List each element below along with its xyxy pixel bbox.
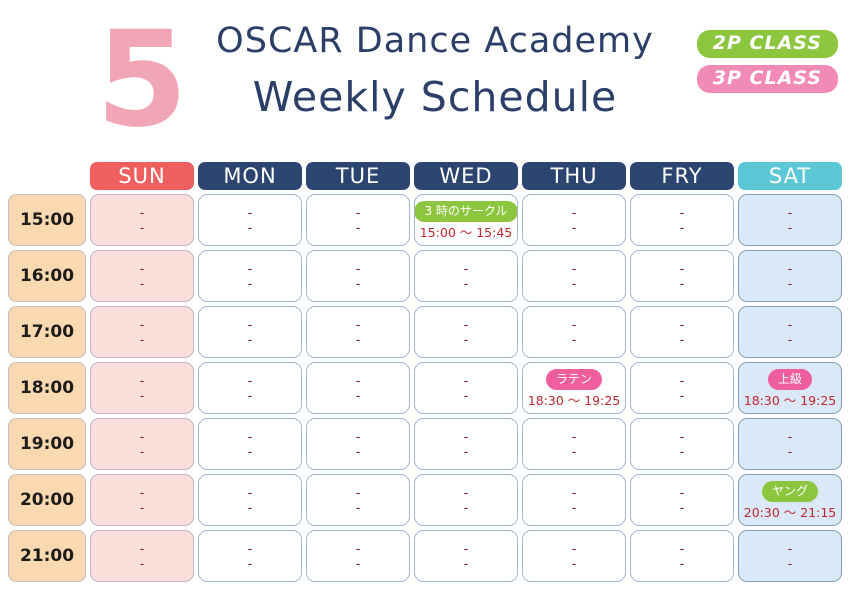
empty-marker: -	[248, 221, 252, 234]
empty-marker: -	[788, 557, 792, 570]
empty-marker: -	[356, 333, 360, 346]
empty-marker: -	[680, 374, 684, 387]
empty-marker: -	[356, 277, 360, 290]
time-label: 16:00	[8, 250, 86, 302]
empty-marker: -	[248, 542, 252, 555]
schedule-cell-empty[interactable]: --	[90, 250, 194, 302]
empty-marker: -	[248, 486, 252, 499]
empty-marker: -	[464, 486, 468, 499]
event-title: ヤング	[762, 481, 818, 502]
empty-marker: -	[572, 445, 576, 458]
schedule-cell-empty[interactable]: --	[198, 362, 302, 414]
schedule-cell-empty[interactable]: --	[630, 306, 734, 358]
empty-marker: -	[680, 557, 684, 570]
empty-marker: -	[680, 318, 684, 331]
empty-marker: -	[356, 501, 360, 514]
empty-marker: -	[464, 333, 468, 346]
schedule-cell-empty[interactable]: --	[522, 306, 626, 358]
empty-marker: -	[572, 486, 576, 499]
empty-marker: -	[248, 206, 252, 219]
schedule-cell-empty[interactable]: --	[630, 362, 734, 414]
empty-marker: -	[464, 374, 468, 387]
empty-marker: -	[572, 221, 576, 234]
day-header-thu[interactable]: THU	[522, 162, 626, 190]
empty-marker: -	[680, 221, 684, 234]
title-block: OSCAR Dance Academy Weekly Schedule	[200, 20, 670, 125]
time-column-header	[8, 162, 86, 190]
schedule-cell-empty[interactable]: --	[414, 362, 518, 414]
schedule-row: 16:00--------------	[8, 250, 852, 302]
empty-marker: -	[788, 262, 792, 275]
empty-marker: -	[356, 374, 360, 387]
empty-marker: -	[140, 445, 144, 458]
schedule-cell-empty[interactable]: --	[738, 530, 842, 582]
schedule-event[interactable]: 上級18:30 〜 19:25	[738, 362, 842, 414]
schedule-cell-empty[interactable]: --	[414, 530, 518, 582]
page-title: OSCAR Dance Academy	[200, 20, 670, 64]
empty-marker: -	[788, 542, 792, 555]
schedule-row: 20:00------------ヤング20:30 〜 21:15	[8, 474, 852, 526]
empty-marker: -	[140, 557, 144, 570]
class-badge-list: 2P CLASS3P CLASS	[697, 30, 838, 93]
event-title: ラテン	[546, 369, 602, 390]
empty-marker: -	[140, 542, 144, 555]
schedule-cell-empty[interactable]: --	[198, 306, 302, 358]
empty-marker: -	[572, 333, 576, 346]
empty-marker: -	[788, 206, 792, 219]
empty-marker: -	[572, 542, 576, 555]
empty-marker: -	[788, 318, 792, 331]
empty-marker: -	[356, 430, 360, 443]
empty-marker: -	[248, 262, 252, 275]
empty-marker: -	[788, 277, 792, 290]
day-header-wed[interactable]: WED	[414, 162, 518, 190]
empty-marker: -	[356, 206, 360, 219]
empty-marker: -	[464, 542, 468, 555]
schedule-cell-empty[interactable]: --	[306, 306, 410, 358]
event-time: 18:30 〜 19:25	[528, 395, 621, 408]
time-label: 17:00	[8, 306, 86, 358]
schedule-cell-empty[interactable]: --	[90, 474, 194, 526]
empty-marker: -	[572, 557, 576, 570]
empty-marker: -	[680, 206, 684, 219]
empty-marker: -	[680, 389, 684, 402]
day-header-row: SUNMONTUEWEDTHUFRYSAT	[8, 162, 852, 190]
schedule-cell-empty[interactable]: --	[738, 306, 842, 358]
empty-marker: -	[464, 262, 468, 275]
schedule-cell-empty[interactable]: --	[630, 194, 734, 246]
schedule-cell-empty[interactable]: --	[306, 194, 410, 246]
time-label: 18:00	[8, 362, 86, 414]
event-time: 15:00 〜 15:45	[420, 227, 513, 240]
schedule-cell-empty[interactable]: --	[738, 194, 842, 246]
empty-marker: -	[572, 206, 576, 219]
empty-marker: -	[248, 318, 252, 331]
empty-marker: -	[680, 430, 684, 443]
empty-marker: -	[464, 501, 468, 514]
class-badge: 2P CLASS	[697, 30, 838, 58]
event-time: 20:30 〜 21:15	[744, 507, 837, 520]
empty-marker: -	[572, 501, 576, 514]
empty-marker: -	[356, 221, 360, 234]
schedule-cell-empty[interactable]: --	[198, 530, 302, 582]
empty-marker: -	[140, 262, 144, 275]
empty-marker: -	[248, 389, 252, 402]
schedule-cell-empty[interactable]: --	[738, 418, 842, 470]
schedule-cell-empty[interactable]: --	[414, 474, 518, 526]
empty-marker: -	[356, 445, 360, 458]
schedule-cell-empty[interactable]: --	[522, 250, 626, 302]
empty-marker: -	[788, 221, 792, 234]
day-header-sat[interactable]: SAT	[738, 162, 842, 190]
empty-marker: -	[248, 445, 252, 458]
schedule-event[interactable]: ヤング20:30 〜 21:15	[738, 474, 842, 526]
empty-marker: -	[356, 389, 360, 402]
empty-marker: -	[356, 318, 360, 331]
empty-marker: -	[680, 501, 684, 514]
schedule-cell-empty[interactable]: --	[90, 194, 194, 246]
empty-marker: -	[248, 333, 252, 346]
event-title: 3 時のサークル	[414, 201, 517, 222]
schedule-cell-empty[interactable]: --	[306, 250, 410, 302]
schedule-cell-empty[interactable]: --	[522, 194, 626, 246]
schedule-cell-empty[interactable]: --	[198, 474, 302, 526]
schedule-cell-empty[interactable]: --	[630, 530, 734, 582]
schedule-cell-empty[interactable]: --	[522, 530, 626, 582]
class-badge: 3P CLASS	[697, 65, 838, 93]
empty-marker: -	[140, 374, 144, 387]
schedule-row: 18:00--------ラテン18:30 〜 19:25--上級18:30 〜…	[8, 362, 852, 414]
empty-marker: -	[140, 430, 144, 443]
schedule-cell-empty[interactable]: --	[198, 250, 302, 302]
schedule-cell-empty[interactable]: --	[306, 530, 410, 582]
schedule-cell-empty[interactable]: --	[522, 418, 626, 470]
empty-marker: -	[140, 389, 144, 402]
day-header-sun[interactable]: SUN	[90, 162, 194, 190]
empty-marker: -	[140, 206, 144, 219]
schedule-cell-empty[interactable]: --	[306, 418, 410, 470]
empty-marker: -	[572, 318, 576, 331]
month-number: 5	[96, 14, 186, 146]
schedule-cell-empty[interactable]: --	[414, 250, 518, 302]
empty-marker: -	[680, 445, 684, 458]
empty-marker: -	[572, 430, 576, 443]
empty-marker: -	[248, 501, 252, 514]
schedule-cell-empty[interactable]: --	[90, 362, 194, 414]
empty-marker: -	[248, 277, 252, 290]
schedule-cell-empty[interactable]: --	[90, 418, 194, 470]
empty-marker: -	[140, 318, 144, 331]
empty-marker: -	[464, 557, 468, 570]
schedule-event[interactable]: 3 時のサークル15:00 〜 15:45	[414, 194, 518, 246]
empty-marker: -	[572, 277, 576, 290]
empty-marker: -	[680, 333, 684, 346]
empty-marker: -	[788, 333, 792, 346]
empty-marker: -	[248, 430, 252, 443]
schedule-cell-empty[interactable]: --	[738, 250, 842, 302]
empty-marker: -	[248, 557, 252, 570]
schedule-row: 19:00--------------	[8, 418, 852, 470]
empty-marker: -	[464, 445, 468, 458]
empty-marker: -	[788, 430, 792, 443]
empty-marker: -	[140, 221, 144, 234]
schedule-cell-empty[interactable]: --	[630, 250, 734, 302]
schedule-cell-empty[interactable]: --	[414, 418, 518, 470]
schedule-cell-empty[interactable]: --	[630, 418, 734, 470]
schedule-cell-empty[interactable]: --	[522, 474, 626, 526]
schedule-cell-empty[interactable]: --	[90, 306, 194, 358]
schedule-cell-empty[interactable]: --	[90, 530, 194, 582]
empty-marker: -	[788, 445, 792, 458]
schedule-cell-empty[interactable]: --	[198, 194, 302, 246]
schedule-event[interactable]: ラテン18:30 〜 19:25	[522, 362, 626, 414]
page-header: 5 OSCAR Dance Academy Weekly Schedule 2P…	[0, 0, 860, 155]
empty-marker: -	[140, 501, 144, 514]
empty-marker: -	[464, 318, 468, 331]
time-label: 20:00	[8, 474, 86, 526]
empty-marker: -	[356, 557, 360, 570]
schedule-row: 15:00------3 時のサークル15:00 〜 15:45------	[8, 194, 852, 246]
empty-marker: -	[680, 262, 684, 275]
page-subtitle: Weekly Schedule	[200, 70, 670, 125]
empty-marker: -	[464, 430, 468, 443]
empty-marker: -	[356, 486, 360, 499]
empty-marker: -	[356, 542, 360, 555]
schedule-cell-empty[interactable]: --	[414, 306, 518, 358]
time-label: 21:00	[8, 530, 86, 582]
event-title: 上級	[768, 369, 812, 390]
schedule-body: 15:00------3 時のサークル15:00 〜 15:45------16…	[8, 194, 852, 582]
empty-marker: -	[140, 277, 144, 290]
schedule-cell-empty[interactable]: --	[198, 418, 302, 470]
time-label: 19:00	[8, 418, 86, 470]
schedule-cell-empty[interactable]: --	[306, 362, 410, 414]
schedule-cell-empty[interactable]: --	[306, 474, 410, 526]
empty-marker: -	[464, 389, 468, 402]
day-header-mon[interactable]: MON	[198, 162, 302, 190]
day-header-tue[interactable]: TUE	[306, 162, 410, 190]
empty-marker: -	[680, 542, 684, 555]
schedule-row: 17:00--------------	[8, 306, 852, 358]
schedule-row: 21:00--------------	[8, 530, 852, 582]
empty-marker: -	[464, 277, 468, 290]
event-time: 18:30 〜 19:25	[744, 395, 837, 408]
schedule-table: SUNMONTUEWEDTHUFRYSAT 15:00------3 時のサーク…	[8, 162, 852, 586]
empty-marker: -	[572, 262, 576, 275]
empty-marker: -	[140, 333, 144, 346]
empty-marker: -	[680, 486, 684, 499]
empty-marker: -	[680, 277, 684, 290]
day-header-fry[interactable]: FRY	[630, 162, 734, 190]
time-label: 15:00	[8, 194, 86, 246]
empty-marker: -	[248, 374, 252, 387]
schedule-cell-empty[interactable]: --	[630, 474, 734, 526]
empty-marker: -	[356, 262, 360, 275]
empty-marker: -	[140, 486, 144, 499]
